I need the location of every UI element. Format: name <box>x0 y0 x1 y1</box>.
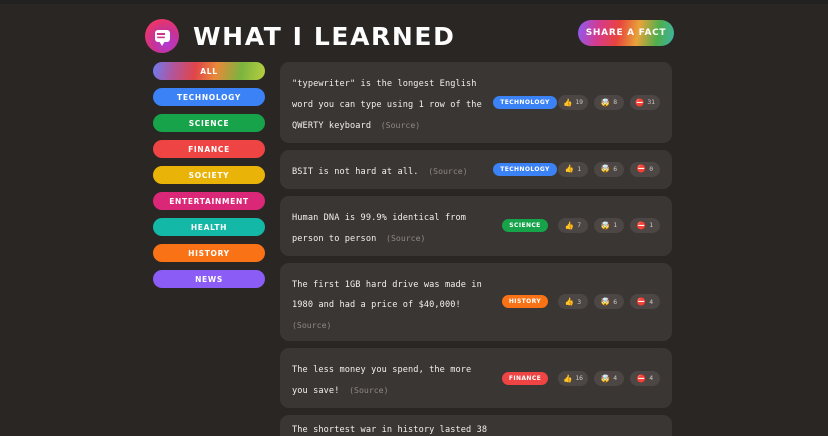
fact-text: Human DNA is 99.9% identical from person… <box>292 213 466 244</box>
tag-slot: HISTORY <box>499 295 551 308</box>
reaction-like-button[interactable]: 👍19 <box>558 95 588 110</box>
speech-bubble-icon <box>145 19 179 53</box>
category-tag: HISTORY <box>502 295 548 308</box>
reaction-mindblown-count: 6 <box>613 166 617 172</box>
reaction-group: 👍3🤯6⛔4 <box>558 294 660 309</box>
sidebar-item-technology[interactable]: TECHNOLOGY <box>153 88 265 106</box>
sidebar-item-entertainment[interactable]: ENTERTAINMENT <box>153 192 265 210</box>
reaction-mindblown-button[interactable]: 🤯6 <box>594 162 624 177</box>
category-tag: TECHNOLOGY <box>493 163 557 176</box>
fact-card-meta: TECHNOLOGY👍19🤯8⛔31 <box>499 95 660 110</box>
reaction-group: 👍1🤯6⛔0 <box>558 162 660 177</box>
tag-slot: TECHNOLOGY <box>499 96 551 109</box>
reaction-like-button[interactable]: 👍1 <box>558 162 588 177</box>
fact-card: The shortest war in history lasted 38 mi… <box>280 415 672 436</box>
reaction-dislike-button[interactable]: ⛔4 <box>630 371 660 386</box>
reaction-mindblown-button[interactable]: 🤯4 <box>594 371 624 386</box>
no-entry-icon: ⛔ <box>635 99 644 107</box>
fact-card-meta: TECHNOLOGY👍1🤯6⛔0 <box>499 162 660 177</box>
app-root: WHAT I LEARNED SHARE A FACT ALLTECHNOLOG… <box>0 0 828 436</box>
fact-card-body: The first 1GB hard drive was made in 198… <box>292 272 489 333</box>
sidebar-item-health[interactable]: HEALTH <box>153 218 265 236</box>
category-tag: TECHNOLOGY <box>493 96 557 109</box>
reaction-dislike-count: 4 <box>649 299 653 305</box>
fact-card: "typewriter" is the longest English word… <box>280 62 672 143</box>
tag-slot: FINANCE <box>499 372 551 385</box>
sidebar-item-finance[interactable]: FINANCE <box>153 140 265 158</box>
reaction-mindblown-count: 1 <box>613 222 617 228</box>
sidebar-item-news[interactable]: NEWS <box>153 270 265 288</box>
fact-card: The less money you spend, the more you s… <box>280 348 672 408</box>
no-entry-icon: ⛔ <box>637 165 646 173</box>
fact-text: The first 1GB hard drive was made in 198… <box>292 280 482 311</box>
fact-text-wrap: The less money you spend, the more you s… <box>292 357 489 399</box>
sidebar-item-all[interactable]: ALL <box>153 62 265 80</box>
reaction-dislike-button[interactable]: ⛔0 <box>630 162 660 177</box>
reaction-mindblown-button[interactable]: 🤯6 <box>594 294 624 309</box>
fact-text: The shortest war in history lasted 38 mi… <box>292 424 489 436</box>
fact-card-meta: FINANCE👍16🤯4⛔4 <box>499 371 660 386</box>
reaction-group: 👍16🤯4⛔4 <box>558 371 660 386</box>
reaction-group: 👍19🤯8⛔31 <box>558 95 660 110</box>
reaction-like-button[interactable]: 👍3 <box>558 294 588 309</box>
fact-text-wrap: "typewriter" is the longest English word… <box>292 71 489 134</box>
fact-text-wrap: Human DNA is 99.9% identical from person… <box>292 205 489 247</box>
no-entry-icon: ⛔ <box>637 375 646 383</box>
thumbs-up-icon: 👍 <box>565 298 574 306</box>
reaction-dislike-count: 1 <box>649 222 653 228</box>
fact-card-body: "typewriter" is the longest English word… <box>292 71 489 134</box>
source-link[interactable]: (Source) <box>349 385 388 395</box>
reaction-like-button[interactable]: 👍7 <box>558 218 588 233</box>
category-sidebar: ALLTECHNOLOGYSCIENCEFINANCESOCIETYENTERT… <box>153 62 265 288</box>
category-tag: SCIENCE <box>502 219 547 232</box>
sidebar-item-history[interactable]: HISTORY <box>153 244 265 262</box>
fact-card-body: Human DNA is 99.9% identical from person… <box>292 205 489 247</box>
mind-blown-icon: 🤯 <box>601 375 610 383</box>
top-edge-strip <box>0 0 828 4</box>
reaction-like-count: 1 <box>577 166 581 172</box>
mind-blown-icon: 🤯 <box>601 222 610 230</box>
fact-card-body: The less money you spend, the more you s… <box>292 357 489 399</box>
reaction-mindblown-count: 6 <box>613 299 617 305</box>
fact-text-wrap: BSIT is not hard at all. (Source) <box>292 159 468 180</box>
sidebar-item-science[interactable]: SCIENCE <box>153 114 265 132</box>
fact-card: BSIT is not hard at all. (Source)TECHNOL… <box>280 150 672 189</box>
reaction-dislike-button[interactable]: ⛔31 <box>630 95 660 110</box>
reaction-dislike-count: 4 <box>649 375 653 381</box>
fact-card: Human DNA is 99.9% identical from person… <box>280 196 672 256</box>
fact-card-body: The shortest war in history lasted 38 mi… <box>292 424 489 436</box>
reaction-like-count: 3 <box>577 299 581 305</box>
no-entry-icon: ⛔ <box>637 222 646 230</box>
reaction-dislike-count: 31 <box>647 99 655 105</box>
fact-card-meta: SCIENCE👍7🤯1⛔1 <box>499 218 660 233</box>
reaction-like-count: 7 <box>577 222 581 228</box>
reaction-like-count: 16 <box>575 375 583 381</box>
fact-text-wrap: The shortest war in history lasted 38 mi… <box>292 424 489 436</box>
fact-feed: "typewriter" is the longest English word… <box>280 62 672 436</box>
logo-bubble-shape <box>155 30 170 42</box>
reaction-dislike-button[interactable]: ⛔4 <box>630 294 660 309</box>
share-a-fact-button[interactable]: SHARE A FACT <box>578 20 674 46</box>
reaction-dislike-count: 0 <box>649 166 653 172</box>
fact-text: BSIT is not hard at all. <box>292 167 419 177</box>
thumbs-up-icon: 👍 <box>565 165 574 173</box>
source-link[interactable]: (Source) <box>428 166 467 176</box>
reaction-mindblown-button[interactable]: 🤯1 <box>594 218 624 233</box>
reaction-mindblown-button[interactable]: 🤯8 <box>594 95 624 110</box>
source-link[interactable]: (Source) <box>292 320 331 330</box>
mind-blown-icon: 🤯 <box>601 99 610 107</box>
tag-slot: TECHNOLOGY <box>499 163 551 176</box>
thumbs-up-icon: 👍 <box>563 375 572 383</box>
fact-text-wrap: The first 1GB hard drive was made in 198… <box>292 272 489 333</box>
source-link[interactable]: (Source) <box>381 120 420 130</box>
sidebar-item-society[interactable]: SOCIETY <box>153 166 265 184</box>
source-link[interactable]: (Source) <box>386 233 425 243</box>
mind-blown-icon: 🤯 <box>601 298 610 306</box>
thumbs-up-icon: 👍 <box>565 222 574 230</box>
fact-card-meta: HISTORY👍3🤯6⛔4 <box>499 294 660 309</box>
no-entry-icon: ⛔ <box>637 298 646 306</box>
page-title: WHAT I LEARNED <box>193 22 455 51</box>
reaction-dislike-button[interactable]: ⛔1 <box>630 218 660 233</box>
thumbs-up-icon: 👍 <box>563 99 572 107</box>
reaction-group: 👍7🤯1⛔1 <box>558 218 660 233</box>
reaction-like-count: 19 <box>575 99 583 105</box>
fact-card: The first 1GB hard drive was made in 198… <box>280 263 672 342</box>
mind-blown-icon: 🤯 <box>601 165 610 173</box>
category-tag: FINANCE <box>502 372 548 385</box>
reaction-mindblown-count: 8 <box>613 99 617 105</box>
reaction-like-button[interactable]: 👍16 <box>558 371 588 386</box>
fact-card-body: BSIT is not hard at all. (Source) <box>292 159 489 180</box>
reaction-mindblown-count: 4 <box>613 375 617 381</box>
tag-slot: SCIENCE <box>499 219 551 232</box>
